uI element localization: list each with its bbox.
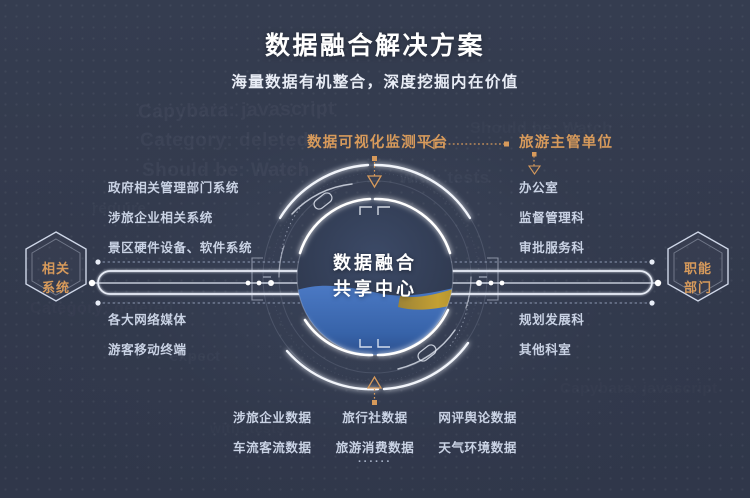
right-feed-arrow-icon [529, 166, 540, 174]
left-top-system-list: 政府相关管理部门系统 涉旅企业相关系统 景区硬件设备、软件系统 [108, 177, 252, 267]
hex-left-label: 相关 系统 [24, 259, 88, 297]
side-feed-lines [529, 152, 540, 174]
right-guide-bottom-dot [649, 300, 654, 305]
right-pipe-end-node [655, 280, 661, 286]
ring-capsule-tl [312, 191, 334, 211]
hex-right-line1: 职能 [666, 259, 730, 278]
list-item: 监督管理科 [519, 207, 585, 226]
label-tourism-authority[interactable]: 旅游主管单位 [519, 131, 613, 152]
list-item: 政府相关管理部门系统 [108, 177, 252, 196]
list-item: 涉旅企业相关系统 [108, 207, 252, 226]
grid-item: 网评舆论数据 [430, 407, 525, 426]
right-guide-top-dot [649, 259, 654, 264]
page-title: 数据融合解决方案 [0, 26, 750, 62]
hex-left-line1: 相关 [24, 259, 88, 278]
bottom-ellipsis: ······ [0, 456, 750, 468]
list-item: 各大网络媒体 [108, 309, 187, 328]
right-top-department-list: 办公室 监督管理科 审批服务科 [519, 177, 585, 267]
right-bottom-department-list: 规划发展科 其他科室 [519, 309, 585, 369]
left-pipe-end-node [89, 280, 95, 286]
right-feed-square [532, 152, 537, 157]
grid-item: 旅行社数据 [328, 407, 423, 426]
top-arrow-square [372, 156, 377, 161]
arc-dotted-l [281, 208, 300, 258]
grid-item: 天气环境数据 [430, 437, 525, 456]
left-flow-dot-1 [246, 281, 251, 286]
label-connector-arrow [424, 138, 512, 150]
arrow-end-square-icon [504, 142, 509, 147]
core-liquid-group [292, 286, 470, 372]
list-item: 其他科室 [519, 339, 585, 358]
arrow-left-head-icon [426, 140, 434, 149]
left-bottom-system-list: 各大网络媒体 游客移动终端 [108, 309, 187, 369]
bottom-arrow-square [372, 400, 377, 405]
left-flow-dot-2 [257, 281, 262, 286]
arc-outer-bl [287, 351, 378, 389]
hex-right-label: 职能 部门 [666, 259, 730, 297]
top-arrow-connector [368, 156, 381, 187]
list-item: 审批服务科 [519, 237, 585, 256]
bottom-arrow-head-up-icon [368, 377, 381, 388]
grid-item: 涉旅企业数据 [225, 407, 320, 426]
ring-capsule-br [416, 343, 438, 363]
right-flow-dot-1 [500, 281, 505, 286]
hex-right-line2: 部门 [666, 278, 730, 297]
infographic-canvas: Capybara: javascript Category: deleted S… [0, 0, 750, 498]
list-item: 游客移动终端 [108, 339, 187, 358]
grid-item: 旅游消费数据 [328, 437, 423, 456]
hex-left-line2: 系统 [24, 278, 88, 297]
left-guide-bottom-dot [95, 300, 100, 305]
left-guide-top-dot [95, 259, 100, 264]
grid-item: 车流客流数据 [225, 437, 320, 456]
bottom-data-grid: 涉旅企业数据 旅行社数据 网评舆论数据 车流客流数据 旅游消费数据 天气环境数据 [225, 407, 525, 456]
list-item: 办公室 [519, 177, 585, 196]
list-item: 规划发展科 [519, 309, 585, 328]
right-flow-dot-2 [489, 281, 494, 286]
list-item: 景区硬件设备、软件系统 [108, 237, 252, 256]
core-circle [292, 199, 470, 372]
page-subtitle: 海量数据有机整合，深度挖掘内在价值 [0, 70, 750, 92]
